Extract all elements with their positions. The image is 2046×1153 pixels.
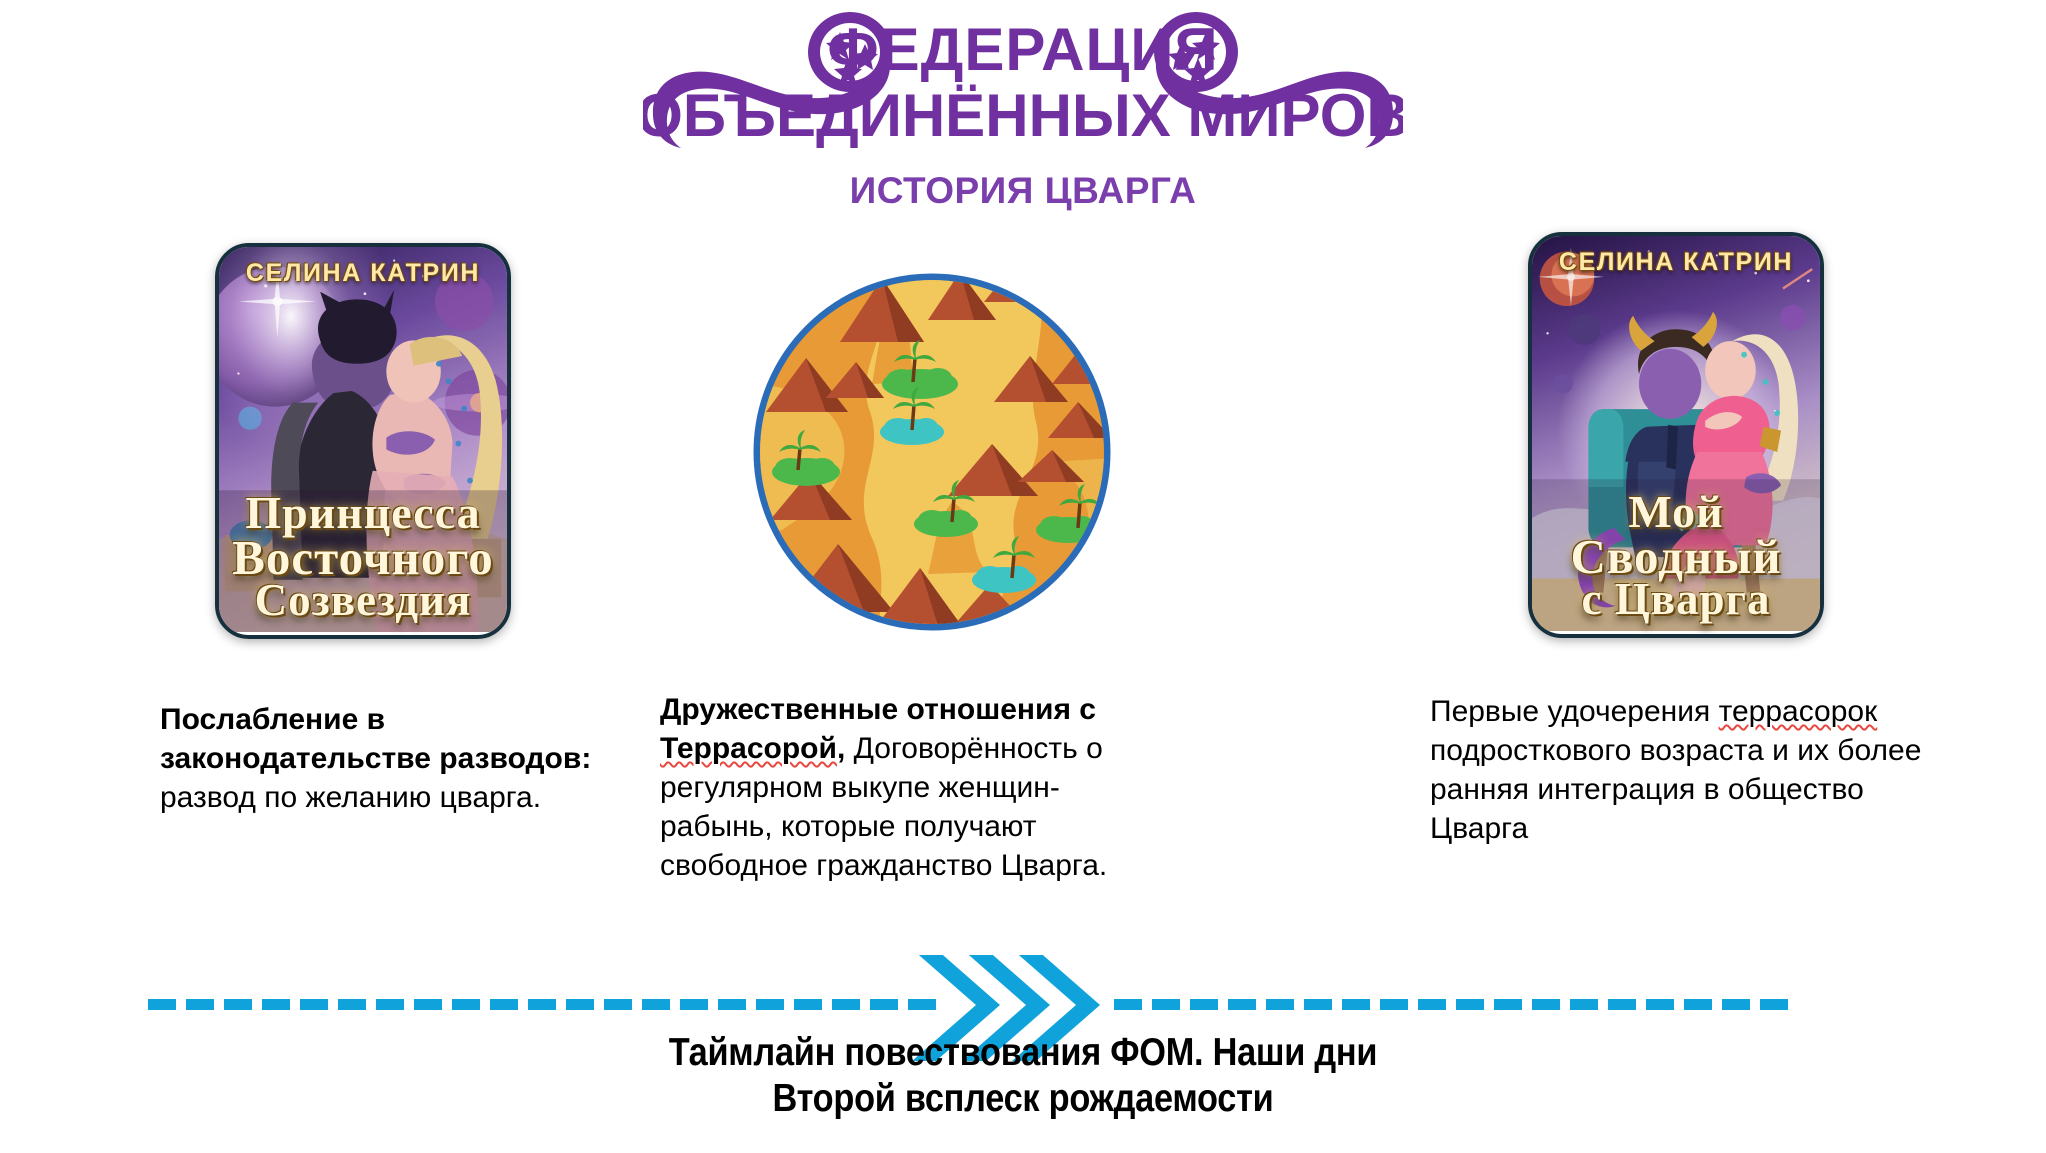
book-cover-left-title: Принцесса Восточного Созвездия [219,492,507,621]
logo-text-line2: ОБЪЕДИНЁННЫХ МИРОВ [643,82,1403,149]
book-cover-left-title-line3: Созвездия [219,580,507,621]
book-cover-right-title: Мой Сводный с Цварга [1532,491,1820,620]
desert-planet-illustration [752,272,1112,632]
book-cover-left-title-line2: Восточного [219,535,507,580]
slide-canvas: ФЕДЕРАЦИЯ ОБЪЕДИНЁННЫХ МИРОВ ИСТОРИЯ ЦВА… [0,0,2046,1153]
federation-logo-icon: ФЕДЕРАЦИЯ ОБЪЕДИНЁННЫХ МИРОВ [643,8,1403,168]
federation-logo-block: ФЕДЕРАЦИЯ ОБЪЕДИНЁННЫХ МИРОВ ИСТОРИЯ ЦВА… [643,8,1403,212]
text-column-left-body: развод по желанию цварга. [160,781,541,814]
timeline-dashes-right [1114,999,1788,1010]
book-cover-left[interactable]: СЕЛИНА КАТРИН Принцесса Восточного Созве… [215,243,511,639]
timeline-caption: Таймлайн повествования ФОМ. Наши дни Вто… [123,1030,1923,1122]
book-cover-right-title-line2: Сводный [1532,534,1820,579]
book-cover-left-title-line1: Принцесса [219,492,507,534]
book-cover-right[interactable]: СЕЛИНА КАТРИН Мой Сводный с Цварга [1528,232,1824,638]
book-cover-right-author: СЕЛИНА КАТРИН [1532,248,1820,277]
text-column-left: Послабление в законодательстве разводов:… [160,700,630,817]
timeline-caption-line2: Второй всплеск рождаемости [123,1076,1923,1122]
misspelled-word-terrasorok: террасорок [1719,695,1878,728]
text-column-middle: Дружественные отношения с Террасорой, До… [660,690,1160,885]
book-cover-right-title-line1: Мой [1532,491,1820,533]
page-subtitle: ИСТОРИЯ ЦВАРГА [643,170,1403,212]
timeline-caption-line1: Таймлайн повествования ФОМ. Наши дни [123,1030,1923,1076]
logo-text-line1: ФЕДЕРАЦИЯ [827,16,1218,83]
book-cover-left-author: СЕЛИНА КАТРИН [219,259,507,288]
text-column-left-heading: Послабление в законодательстве разводов: [160,703,591,775]
text-column-right-body-part1: Первые удочерения [1430,695,1719,728]
text-column-right: Первые удочерения террасорок подростково… [1430,692,1970,848]
timeline-dashes-left [148,999,936,1010]
book-cover-right-title-line3: с Цварга [1532,579,1820,620]
text-column-right-body-part2: подросткового возраста и их более ранняя… [1430,734,1921,845]
misspelled-word-terrasoroy: Террасорой [660,732,837,765]
